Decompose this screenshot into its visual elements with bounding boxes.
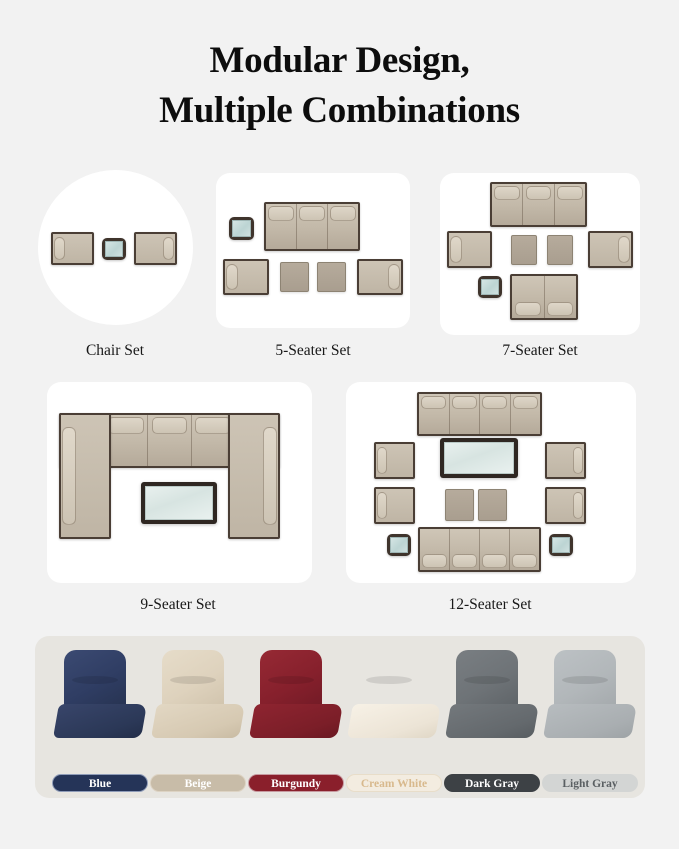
color-swatch-dark-gray[interactable]: Dark Gray (444, 650, 540, 745)
chair-left (447, 231, 492, 268)
cushion-seat (53, 704, 147, 738)
chair-right (357, 259, 403, 295)
cushion-seat (445, 704, 539, 738)
side-table-right (549, 534, 573, 556)
cushion-back (260, 650, 322, 712)
set-card-9-seater-set[interactable] (47, 382, 312, 583)
color-label-burgundy: Burgundy (248, 774, 344, 792)
cushion-preview-beige (150, 650, 246, 745)
side-table (102, 238, 126, 260)
product-infographic: Modular Design, Multiple Combinations Ch… (0, 0, 679, 849)
cushion-seat (543, 704, 637, 738)
chair-upper-left (374, 442, 415, 479)
two-seat-sofa (510, 274, 578, 320)
cushion-seat (151, 704, 245, 738)
page-title: Modular Design, Multiple Combinations (0, 36, 679, 136)
color-label-beige: Beige (150, 774, 246, 792)
chair-right (588, 231, 633, 268)
glass-coffee-table (440, 438, 518, 478)
set-card-7-seater-set[interactable] (440, 173, 640, 335)
set-label-9-seater-set: 9-Seater Set (88, 596, 268, 614)
side-table (478, 276, 502, 298)
set-card-chair-set[interactable] (38, 170, 193, 325)
ottoman-right (478, 489, 507, 521)
title-line-1: Modular Design, (209, 40, 469, 81)
cushion-seat (347, 704, 441, 738)
set-card-5-seater-set[interactable] (216, 173, 410, 328)
cushion-preview-cream-white (346, 650, 442, 745)
cushion-preview-blue (52, 650, 148, 745)
color-label-blue: Blue (52, 774, 148, 792)
chair-left (223, 259, 269, 295)
color-swatch-cream-white[interactable]: Cream White (346, 650, 442, 745)
side-table-left (387, 534, 411, 556)
cushion-seat (249, 704, 343, 738)
color-swatch-blue[interactable]: Blue (52, 650, 148, 745)
chair-upper-right (545, 442, 586, 479)
set-card-12-seater-set[interactable] (346, 382, 636, 583)
color-label-light-gray: Light Gray (542, 774, 638, 792)
color-swatch-beige[interactable]: Beige (150, 650, 246, 745)
color-swatch-light-gray[interactable]: Light Gray (542, 650, 638, 745)
cushion-preview-light-gray (542, 650, 638, 745)
set-label-5-seater-set: 5-Seater Set (223, 342, 403, 360)
chair-right (134, 232, 177, 265)
cushion-back (554, 650, 616, 712)
ottoman-right (317, 262, 346, 292)
chair-left (51, 232, 94, 265)
cushion-preview-burgundy (248, 650, 344, 745)
chair-lower-right (545, 487, 586, 524)
side-table (229, 217, 254, 240)
sectional-left-run (59, 413, 111, 539)
cushion-preview-dark-gray (444, 650, 540, 745)
sectional-right-run (228, 413, 280, 539)
cushion-back (64, 650, 126, 712)
cushion-back (162, 650, 224, 712)
ottoman-left (511, 235, 537, 265)
title-line-2: Multiple Combinations (0, 86, 679, 136)
set-label-chair-set: Chair Set (25, 342, 205, 360)
color-label-cream-white: Cream White (346, 774, 442, 792)
glass-coffee-table (141, 482, 217, 524)
three-seat-sofa (264, 202, 360, 251)
color-options-panel: Blue Beige Burgundy Cream White (35, 636, 645, 798)
ottoman-left (445, 489, 474, 521)
three-seat-sofa (490, 182, 587, 227)
chair-lower-left (374, 487, 415, 524)
bottom-four-seat-sofa (418, 527, 541, 572)
top-four-seat-sofa (417, 392, 542, 436)
set-label-7-seater-set: 7-Seater Set (450, 342, 630, 360)
color-swatch-burgundy[interactable]: Burgundy (248, 650, 344, 745)
cushion-back (358, 650, 420, 712)
ottoman-right (547, 235, 573, 265)
set-label-12-seater-set: 12-Seater Set (400, 596, 580, 614)
color-label-dark-gray: Dark Gray (444, 774, 540, 792)
ottoman-left (280, 262, 309, 292)
cushion-back (456, 650, 518, 712)
